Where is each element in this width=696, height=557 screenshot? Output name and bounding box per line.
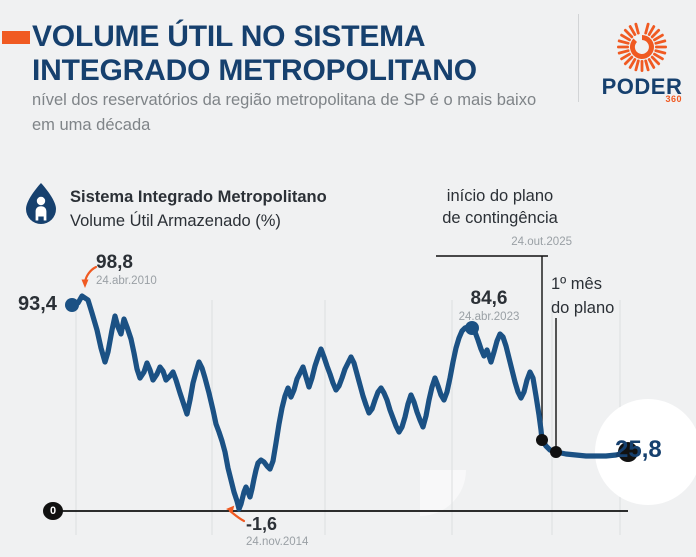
volume-util-line [72,296,628,509]
annotation-peak-2023-value: 84,6 [471,288,508,309]
annotation-low-2014: -1,6 24.nov.2014 [246,514,308,548]
annotation-peak-2023-date: 24.abr.2023 [441,311,537,323]
annotation-contingency: início do plano de contingência 24.out.2… [420,185,580,253]
infographic-root: VOLUME ÚTIL NO SISTEMA INTEGRADO METROPO… [0,0,696,557]
first-month-marker [550,446,562,458]
annotation-contingency-line2: de contingência [442,209,558,227]
annotation-low-2014-value: -1,6 [246,514,277,534]
annotation-first-month: 1º mês do plano [551,272,614,320]
zero-axis-marker: 0 [43,502,63,520]
annotation-peak-2010: 98,8 24.abr.2010 [96,252,157,287]
annotation-first-month-line1: 1º mês [551,275,602,293]
annotation-contingency-date: 24.out.2025 [420,231,580,253]
annotation-peak-2010-date: 24.abr.2010 [96,275,157,287]
annotation-peak-2010-value: 98,8 [96,252,133,273]
arrow-98-icon [82,267,97,288]
annotation-contingency-line1: início do plano [447,187,553,205]
annotation-current-value: 25,8 [615,436,662,464]
annotation-first-month-line2: do plano [551,299,614,317]
annotation-low-2014-date: 24.nov.2014 [246,536,308,548]
contingency-start-marker [536,434,548,446]
peak-2023-point-marker [465,321,479,335]
start-point-marker [65,298,79,312]
annotation-start-value: 93,4 [18,293,57,316]
annotation-peak-2023: 84,6 24.abr.2023 [441,288,537,323]
